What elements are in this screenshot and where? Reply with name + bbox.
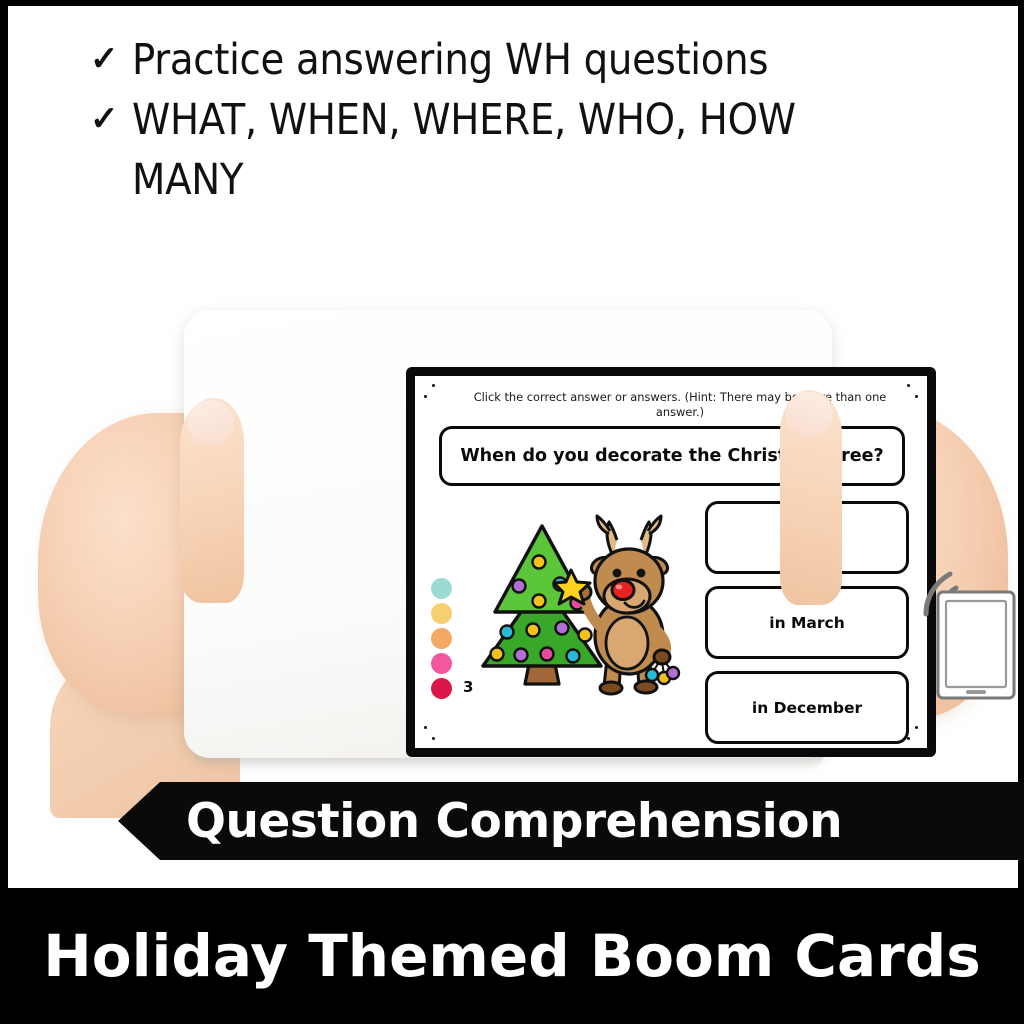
progress-dot-pink: [431, 653, 452, 674]
progress-dot-crimson: [431, 678, 452, 699]
feature-list: ✓ Practice answering WH questions ✓ WHAT…: [90, 30, 890, 210]
left-thumb-nail: [188, 400, 234, 444]
feature-list-item: ✓ WHAT, WHEN, WHERE, WHO, HOW MANY: [90, 90, 890, 210]
footer-title: Holiday Themed Boom Cards: [43, 922, 981, 990]
tablet-device: Click the correct answer or answers. (Hi…: [184, 310, 832, 758]
answer-choice-in-december[interactable]: in December: [705, 671, 909, 744]
progress-dot-gold: [431, 603, 452, 624]
boom-card-inner: Click the correct answer or answers. (Hi…: [415, 376, 927, 748]
reindeer-with-christmas-tree-illustration: [467, 504, 682, 704]
feature-list-item-label: WHAT, WHEN, WHERE, WHO, HOW MANY: [132, 90, 890, 210]
banner-title: Question Comprehension: [186, 794, 842, 849]
check-icon: ✓: [90, 30, 118, 88]
corner-dots-bottom-left: [423, 706, 445, 740]
check-icon: ✓: [90, 90, 118, 148]
corner-dots-top-left: [423, 384, 445, 418]
footer-bar: Holiday Themed Boom Cards: [0, 888, 1024, 1024]
tablet-scene: Click the correct answer or answers. (Hi…: [8, 278, 1018, 798]
boom-card: Click the correct answer or answers. (Hi…: [406, 367, 936, 757]
progress-dots: [431, 578, 457, 703]
progress-dot-teal: [431, 578, 452, 599]
banner: Question Comprehension: [118, 782, 1024, 860]
right-thumb-nail: [786, 392, 832, 436]
feature-list-item: ✓ Practice answering WH questions: [90, 30, 890, 90]
progress-dot-orange: [431, 628, 452, 649]
page-frame: ✓ Practice answering WH questions ✓ WHAT…: [0, 0, 1024, 1024]
feature-list-item-label: Practice answering WH questions: [132, 30, 768, 90]
content-canvas: ✓ Practice answering WH questions ✓ WHAT…: [8, 6, 1018, 888]
tablet-wifi-icon: [904, 570, 1018, 700]
